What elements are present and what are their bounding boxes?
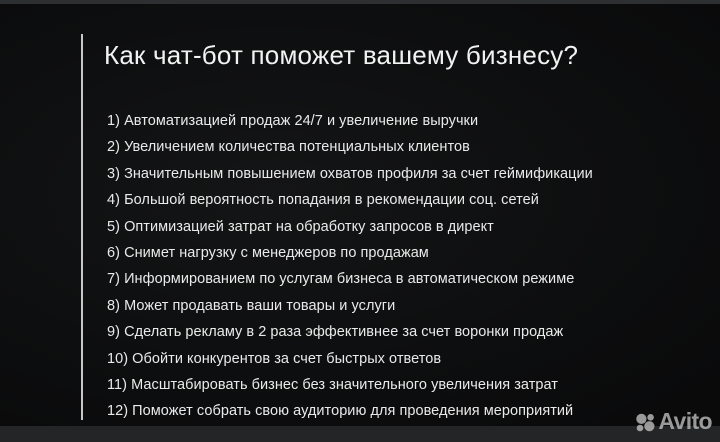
benefit-item-3: 3) Значительным повышением охватов профи…	[107, 165, 593, 183]
avito-wordmark: Avito	[658, 410, 712, 433]
benefit-item-6: 6) Снимет нагрузку с менеджеров по прода…	[107, 244, 593, 262]
vertical-accent-rule	[81, 34, 83, 420]
benefits-list: 1) Автоматизацией продаж 24/7 и увеличен…	[107, 112, 593, 429]
benefit-item-9: 9) Сделать рекламу в 2 раза эффективнее …	[107, 323, 593, 341]
benefit-item-8: 8) Может продавать ваши товары и услуги	[107, 297, 593, 315]
benefit-item-1: 1) Автоматизацией продаж 24/7 и увеличен…	[107, 112, 593, 130]
avito-dots-logo-icon	[635, 412, 655, 432]
benefit-item-12: 12) Поможет собрать свою аудиторию для п…	[107, 402, 593, 420]
slide-title: Как чат-бот поможет вашему бизнесу?	[104, 38, 578, 72]
benefit-item-2: 2) Увеличением количества потенциальных …	[107, 138, 593, 156]
benefit-item-5: 5) Оптимизацией затрат на обработку запр…	[107, 218, 593, 236]
avito-watermark: Avito	[635, 410, 712, 433]
bottom-letterbox-band	[0, 426, 720, 442]
benefit-item-4: 4) Большой вероятность попадания в реком…	[107, 191, 593, 209]
benefit-item-11: 11) Масштабировать бизнес без значительн…	[107, 376, 593, 394]
slide-content: Как чат-бот поможет вашему бизнесу? 1) А…	[104, 0, 704, 442]
presentation-slide: Как чат-бот поможет вашему бизнесу? 1) А…	[0, 0, 720, 442]
benefit-item-7: 7) Информированием по услугам бизнеса в …	[107, 270, 593, 288]
benefit-item-10: 10) Обойти конкурентов за счет быстрых о…	[107, 350, 593, 368]
